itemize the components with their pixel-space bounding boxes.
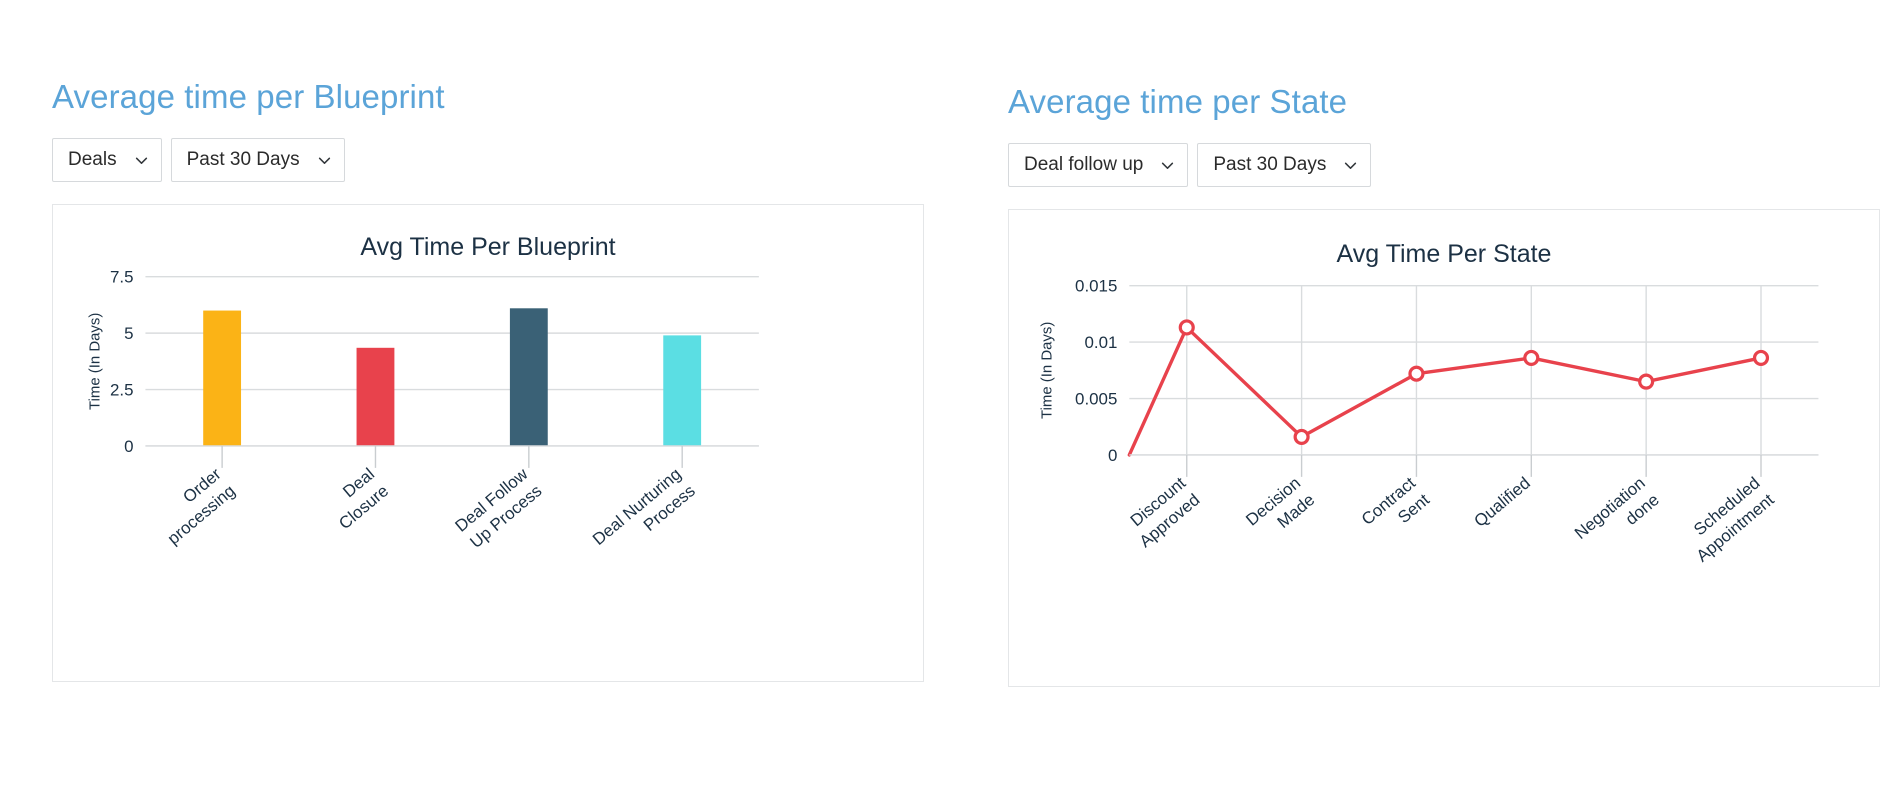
state-blueprint-select[interactable]: Deal follow up — [1008, 143, 1188, 187]
bar-chart: Time (In Days)02.557.5OrderprocessingDea… — [53, 205, 923, 681]
y-tick-label: 7.5 — [110, 268, 134, 287]
blueprint-period-select-value: Past 30 Days — [187, 149, 300, 171]
series-point — [1410, 367, 1423, 380]
chevron-down-icon — [135, 154, 148, 167]
chevron-down-icon — [1344, 159, 1357, 172]
state-period-select[interactable]: Past 30 Days — [1197, 143, 1371, 187]
x-tick-label: Deal NurturingProcess — [589, 464, 699, 565]
bar — [203, 311, 241, 446]
y-tick-label: 0.015 — [1075, 277, 1117, 296]
state-panel: Average time per State Deal follow up Pa… — [1008, 0, 1888, 687]
state-period-select-value: Past 30 Days — [1213, 154, 1326, 176]
series-line — [1129, 327, 1761, 455]
page-title-state: Average time per State — [1008, 83, 1888, 121]
x-tick-label: DiscountApproved — [1122, 473, 1204, 551]
y-axis-title: Time (In Days) — [87, 313, 104, 410]
series-point — [1295, 430, 1308, 443]
state-blueprint-select-value: Deal follow up — [1024, 154, 1143, 176]
blueprint-period-select[interactable]: Past 30 Days — [171, 138, 345, 182]
chevron-down-icon — [1161, 159, 1174, 172]
page-title-blueprint: Average time per Blueprint — [52, 78, 932, 116]
x-tick-label: DealClosure — [321, 464, 392, 533]
bar — [357, 348, 395, 446]
y-tick-label: 0 — [124, 437, 133, 456]
x-tick-label: ScheduledAppointment — [1679, 473, 1778, 566]
series-point — [1180, 321, 1193, 334]
state-chart-card: Avg Time Per State Time (In Days)00.0050… — [1008, 209, 1880, 687]
chevron-down-icon — [318, 154, 331, 167]
series-point — [1755, 351, 1768, 364]
line-chart: Time (In Days)00.0050.010.015DiscountApp… — [1009, 210, 1879, 686]
svg-text:Qualified: Qualified — [1471, 473, 1534, 530]
y-tick-label: 2.5 — [110, 381, 134, 400]
y-tick-label: 5 — [124, 324, 133, 343]
x-tick-label: Negotiationdone — [1571, 473, 1663, 559]
y-axis-title: Time (In Days) — [1039, 322, 1056, 419]
blueprint-module-select[interactable]: Deals — [52, 138, 162, 182]
x-tick-label: Deal FollowUp Process — [452, 464, 547, 553]
y-tick-label: 0.01 — [1084, 333, 1117, 352]
blueprint-module-select-value: Deals — [68, 149, 117, 171]
series-point — [1525, 351, 1538, 364]
x-tick-label: DecisionMade — [1242, 473, 1318, 546]
x-tick-label: Qualified — [1471, 473, 1534, 530]
y-tick-label: 0 — [1108, 446, 1117, 465]
bar — [663, 335, 701, 446]
x-tick-label: Orderprocessing — [150, 464, 239, 548]
state-controls: Deal follow up Past 30 Days — [1008, 143, 1888, 187]
blueprint-controls: Deals Past 30 Days — [52, 138, 932, 182]
dashboard-page: Average time per Blueprint Deals Past 30… — [0, 0, 1900, 800]
y-tick-label: 0.005 — [1075, 390, 1117, 409]
blueprint-panel: Average time per Blueprint Deals Past 30… — [52, 0, 932, 682]
bar — [510, 308, 548, 446]
blueprint-chart-card: Avg Time Per Blueprint Time (In Days)02.… — [52, 204, 924, 682]
series-point — [1640, 375, 1653, 388]
x-tick-label: ContractSent — [1358, 473, 1433, 546]
